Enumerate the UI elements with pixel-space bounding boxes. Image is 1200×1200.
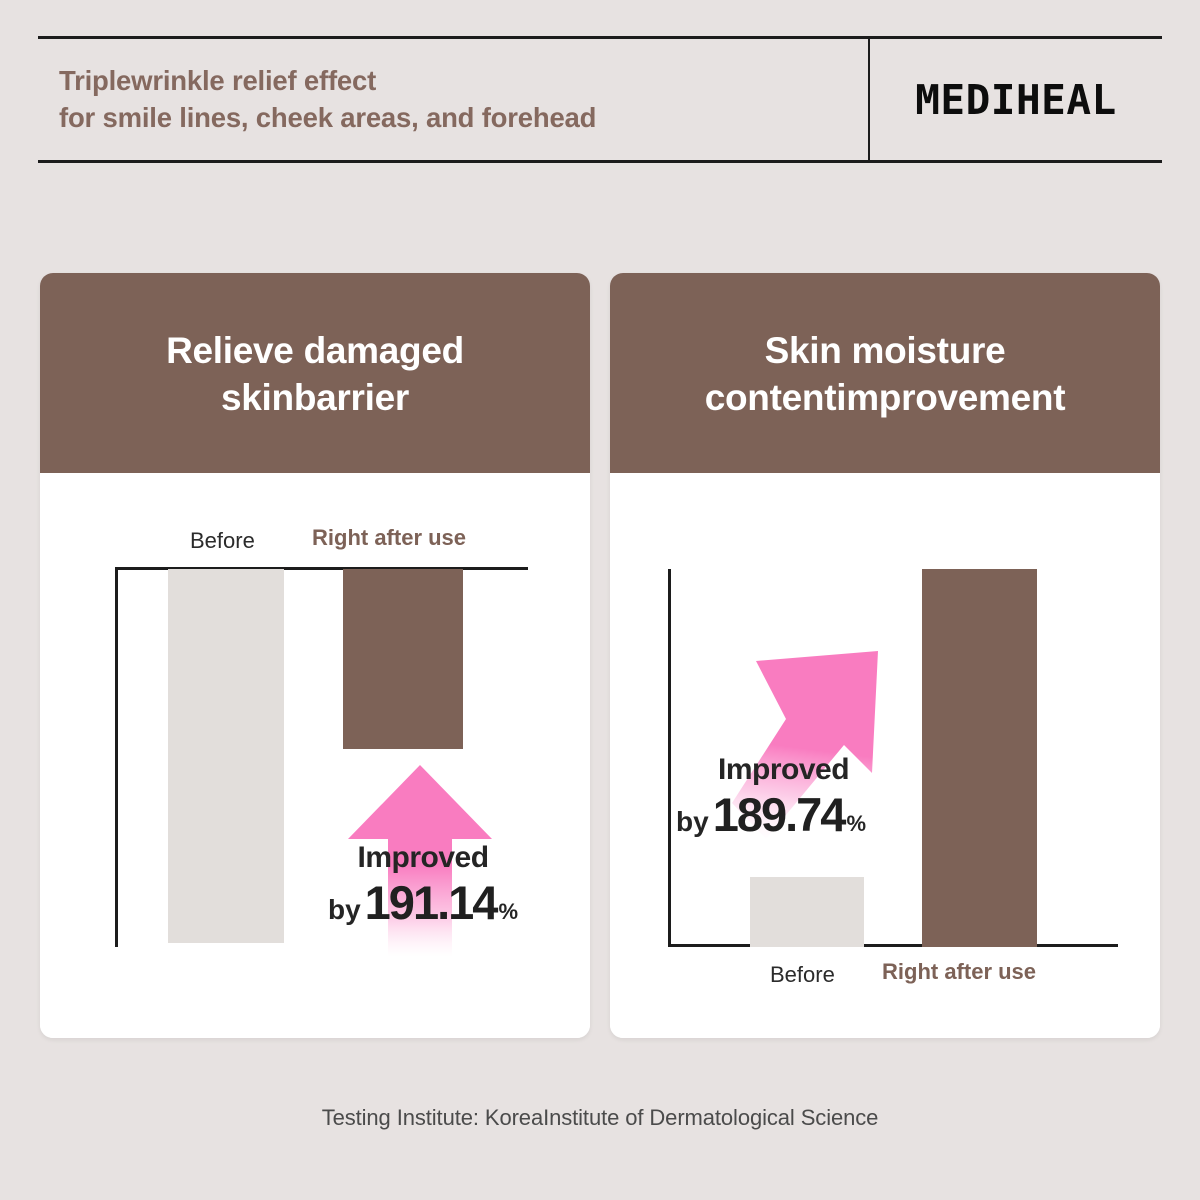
page-title-line-1: Triplewrinkle relief effect — [59, 63, 868, 100]
chart-right-bar-after — [922, 569, 1037, 947]
page-header: Triplewrinkle relief effect for smile li… — [38, 36, 1162, 163]
card-skin-barrier-title-line-1: Relieve damaged — [166, 328, 464, 375]
testing-institute-note: Testing Institute: KoreaInstitute of Der… — [0, 1105, 1200, 1131]
card-skin-barrier-title-line-2: skinbarrier — [221, 375, 409, 422]
card-skin-moisture-header: Skin moisture contentimprovement — [610, 273, 1160, 473]
header-title-block: Triplewrinkle relief effect for smile li… — [38, 39, 868, 160]
chart-left-bar-before — [168, 569, 284, 943]
chart-right-axis-horizontal — [668, 944, 1118, 947]
card-skin-barrier-header: Relieve damaged skinbarrier — [40, 273, 590, 473]
card-skin-barrier-body: Before Right after use — [40, 473, 590, 1038]
chart-right-improvement-value: 189.74 — [713, 791, 845, 838]
chart-left-axis-vertical — [115, 567, 118, 947]
chart-left-by-label: by — [328, 896, 361, 924]
chart-left-improvement-value: 191.14 — [365, 879, 497, 926]
chart-right-bar-before — [750, 877, 864, 947]
chart-skin-barrier: Before Right after use — [40, 473, 590, 1038]
chart-right-improvement-callout: Improved by 189.74 % — [662, 755, 912, 838]
chart-left-label-after: Right after use — [312, 525, 466, 551]
brand-logo-container: MEDIHEAL — [868, 39, 1162, 160]
chart-skin-moisture: Improved by 189.74 % Before Right after … — [610, 473, 1160, 1038]
chart-right-improved-label: Improved — [662, 755, 912, 785]
card-skin-moisture-title-line-1: Skin moisture — [765, 328, 1006, 375]
card-skin-barrier: Relieve damaged skinbarrier Before Right… — [40, 273, 590, 1038]
chart-left-bar-after — [343, 569, 463, 749]
results-cards-container: Relieve damaged skinbarrier Before Right… — [40, 273, 1160, 1038]
chart-left-percent-symbol: % — [498, 901, 518, 923]
mediheal-logo: MEDIHEAL — [915, 76, 1116, 124]
page-title-line-2: for smile lines, cheek areas, and forehe… — [59, 100, 868, 137]
chart-right-by-label: by — [676, 808, 709, 836]
card-skin-moisture: Skin moisture contentimprovement — [610, 273, 1160, 1038]
chart-right-percent-symbol: % — [846, 813, 866, 835]
card-skin-moisture-body: Improved by 189.74 % Before Right after … — [610, 473, 1160, 1038]
chart-left-label-before: Before — [190, 528, 255, 554]
chart-right-label-after: Right after use — [882, 959, 1036, 985]
card-skin-moisture-title-line-2: contentimprovement — [705, 375, 1066, 422]
chart-left-improvement-callout: Improved by 191.14 % — [308, 843, 538, 926]
chart-left-improved-label: Improved — [308, 843, 538, 873]
chart-right-label-before: Before — [770, 962, 835, 988]
